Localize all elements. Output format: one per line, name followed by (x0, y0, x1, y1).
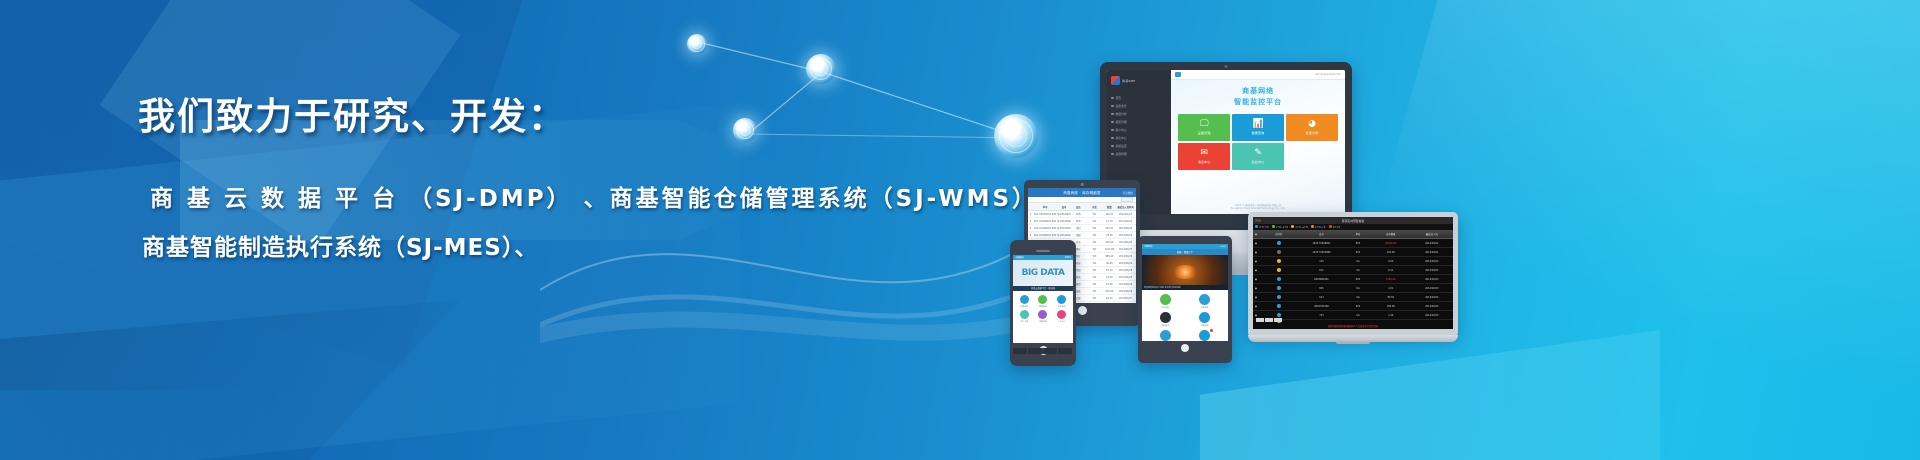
signal-light-icon (1260, 277, 1298, 281)
cell-5: 56.00 (1105, 262, 1115, 265)
bullet-icon (1111, 97, 1114, 100)
tablet-camera-icon (1081, 183, 1084, 186)
cell-6: 2014/04/24 (1115, 262, 1136, 265)
bullet-icon (1111, 145, 1114, 148)
cell-5: 87.30 (1105, 269, 1115, 272)
table-row[interactable]: ▣743KG1.462014/04/25 (1253, 311, 1453, 320)
tile-message-center[interactable]: ✉ 消息中心 (1178, 143, 1230, 170)
cell-3: 铜线 (1072, 233, 1084, 237)
cell-4: W3 (1085, 248, 1103, 251)
app-label: 生产工单 (1021, 320, 1029, 323)
edit-icon: ✎ (1254, 149, 1262, 158)
cell-code: 8403661861 (1299, 278, 1344, 281)
legend-item-4: 大于1年 (1329, 225, 1341, 229)
cell-qty: 6700.00 (1372, 278, 1410, 281)
legend-label: 6个月~1年 (1315, 227, 1326, 229)
cell-5: 2100.00 (1105, 248, 1115, 251)
table-row[interactable]: ▣8403661861PCS6700.002014/04/23 (1253, 275, 1453, 284)
cell-0: 2 (1028, 220, 1033, 223)
carrier-label: 中国移动 (1144, 245, 1152, 248)
cell-code: 611 (1299, 269, 1344, 272)
cell-5: 103.21 (1105, 213, 1115, 216)
cell-4: W1 (1085, 241, 1103, 244)
bar-chart-icon: 📊 (1253, 120, 1264, 129)
app-label: 物料配送 (1161, 324, 1169, 327)
cell-date: 2014/04/24 (1411, 305, 1453, 308)
cell-code: 613 (1299, 296, 1344, 299)
table-row[interactable]: ▣4081704460PCS105.002014/04/24 (1253, 302, 1453, 311)
cell-date: 2014/04/22 (1411, 260, 1453, 263)
cell-1: 201-01040030-0001-2014XC-00001000 (1034, 213, 1056, 216)
legend-label: 大于1年 (1333, 227, 1341, 229)
battery-label: 100% (1220, 246, 1226, 248)
legend-item-1: 1个月~3个月 (1272, 225, 1289, 229)
cell-code: 1045.70646001 (1299, 242, 1344, 245)
row-checkbox[interactable]: ▣ (1253, 287, 1259, 290)
app-label: 库存查询 (1058, 305, 1066, 308)
col-warehouse[interactable]: 仓库 (1085, 205, 1103, 209)
signal-light-icon (1260, 259, 1298, 263)
phone-speaker-icon (1036, 250, 1050, 252)
legend-label: 1个月~3个月 (1276, 227, 1289, 229)
laptop-base-notch (1336, 342, 1370, 344)
imac-account-label: admin@sj-dmp.com (1315, 73, 1341, 76)
cell-unit: PCS (1345, 305, 1371, 308)
app-icon-tile[interactable]: 能耗分析 (1147, 330, 1184, 341)
cell-4: W3 (1085, 255, 1103, 258)
cell-qty: 102.90 (1372, 251, 1410, 254)
tile-label: 智能分析 (1306, 131, 1319, 135)
tile-label: 设备管理 (1198, 131, 1211, 135)
sidebar-item-7[interactable]: 运维管理 (1107, 150, 1171, 158)
signal-light-icon (1260, 268, 1298, 272)
cell-code: 1045.70013686 (1299, 251, 1344, 254)
sidebar-item-label: 数据分析 (1116, 112, 1127, 116)
table-row[interactable]: ▣1045.70646001PCS29426.002014/04/21 (1253, 239, 1453, 248)
col-qty[interactable]: 库存数量 (1372, 232, 1410, 236)
laptop-window-titlebar: 库存实时预警看板 (1253, 217, 1453, 224)
imac-logo: 商基SMP (1107, 73, 1171, 88)
cell-unit: KG (1345, 314, 1371, 317)
cell-code: 845 (1299, 287, 1344, 290)
tablet-right-hero-image (1142, 255, 1228, 285)
tile-data-query[interactable]: 📊 数据查询 (1232, 114, 1284, 141)
cell-0: 4 (1028, 234, 1033, 237)
col-name[interactable]: 品名 (1072, 205, 1084, 209)
device-mockup-cluster: 商基SMP 首页 设备监控 数据分析 报警管理 用户中心 消息中心 系统设置 运… (1010, 40, 1510, 370)
laptop-mockup: 库存实时预警看板 小于1个月 1个月~3个月 3个月~6个月 6个月~1年 大于… (1248, 212, 1458, 344)
laptop-table-body: ▣1045.70646001PCS29426.002014/04/21▣1045… (1253, 239, 1453, 329)
window-controls-icon[interactable] (1255, 219, 1261, 222)
tile-label: 数据查询 (1252, 131, 1265, 135)
cell-qty: 4.31 (1372, 287, 1410, 290)
imac-title-line1: 商基网络 (1171, 86, 1345, 96)
col-qty[interactable]: 数量 (1105, 205, 1115, 209)
app-label: 个人中心 (1058, 320, 1066, 323)
tile-empty (1286, 143, 1338, 170)
laptop-base (1248, 335, 1458, 342)
table-row[interactable]: ▣845KG4.312014/04/23 (1253, 284, 1453, 293)
imac-tile-grid: 🖵 设备管理 📊 数据查询 ◕ 智能分析 (1171, 107, 1345, 170)
app-icon (1020, 295, 1029, 304)
sidebar-item-6[interactable]: 系统设置 (1107, 142, 1171, 150)
tile-device-management[interactable]: 🖵 设备管理 (1178, 114, 1230, 141)
sidebar-item-4[interactable]: 用户中心 (1107, 126, 1171, 134)
imac-screen: 商基SMP 首页 设备监控 数据分析 报警管理 用户中心 消息中心 系统设置 运… (1107, 70, 1345, 214)
app-label: 质量追溯 (1201, 324, 1209, 327)
app-icon (1160, 330, 1171, 341)
app-icon-tile[interactable]: 设备状态 (1187, 294, 1224, 309)
sidebar-item-label: 系统设置 (1116, 144, 1127, 148)
cell-4: W1 (1085, 220, 1103, 223)
app-label: 生产看板 (1161, 306, 1169, 309)
cell-unit: PCS (1345, 242, 1371, 245)
cell-6: 2014/04/22 (1115, 227, 1136, 230)
cell-2: SJ-DM-0001092 (1057, 213, 1071, 216)
table-row[interactable]: ▣611KG6.112014/04/22 (1253, 266, 1453, 275)
laptop-window-title: 库存实时预警看板 (1342, 219, 1364, 223)
tablet-left-table-header: 单号 品号 品名 仓库 数量 最近出入库时间 (1028, 203, 1136, 211)
cell-1: 201-01040030-0001-2014XC-00001001 (1034, 220, 1056, 223)
cell-5: 450.00 (1105, 241, 1115, 244)
app-label: 数据报表 (1039, 305, 1047, 308)
notification-badge (1210, 329, 1213, 332)
phone-screen: 中国移动 100% BIG DATA 商基云数据平台 · 移动端 设备监控数据报… (1013, 255, 1073, 343)
cell-5: 64.10 (1105, 297, 1115, 300)
table-row[interactable]: ▣1045.70013686PCS102.902014/04/21 (1253, 248, 1453, 257)
app-icon (1038, 295, 1047, 304)
cell-4: W2 (1085, 234, 1103, 237)
app-icon-tile[interactable]: 生产工单 (1016, 310, 1033, 323)
tablet-home-button[interactable] (1078, 306, 1087, 315)
legend-label: 3个月~6个月 (1295, 227, 1308, 229)
cell-date: 2014/04/24 (1411, 296, 1453, 299)
row-checkbox[interactable]: ▣ (1253, 242, 1259, 245)
row-checkbox[interactable]: ▣ (1253, 278, 1259, 281)
tablet-left-title: 商基网络 · 库存明细表 (1063, 190, 1100, 195)
app-icon (1020, 310, 1029, 319)
signal-light-icon (1260, 241, 1298, 245)
cell-unit: KG (1345, 260, 1371, 263)
tile-smart-analysis[interactable]: ◕ 智能分析 (1286, 114, 1338, 141)
bullet-icon (1111, 105, 1114, 108)
imac-footer-line2: Sungbing Shanji Internet Technology Co.,… (1171, 207, 1345, 211)
product-line-1: 商 基 云 数 据 平 台 （SJ-DMP） 、商基智能仓储管理系统（SJ-WM… (138, 188, 958, 211)
signal-light-icon (1260, 313, 1298, 317)
cell-0: 3 (1028, 227, 1033, 230)
legend-label: 小于1个月 (1259, 227, 1269, 229)
col-order[interactable]: 单号 (1034, 205, 1056, 209)
page-title: 我们致力于研究、开发： (138, 86, 958, 140)
app-icon-tile[interactable]: 设备监控 (1016, 295, 1033, 308)
envelope-icon: ✉ (1200, 149, 1208, 158)
bullet-icon (1111, 129, 1114, 132)
app-icon-tile[interactable]: 报警消息 (1035, 310, 1052, 323)
app-icon-tile[interactable]: 报警中心 (1187, 330, 1224, 341)
app-icon-tile[interactable]: 库存查询 (1053, 295, 1070, 308)
export-data-button[interactable]: 导出数据 (1123, 191, 1133, 195)
cell-4: W1 (1085, 262, 1103, 265)
imac-footer: 2014 © 版权所有 / 商基网络科技有限公司 Sungbing Shanji… (1171, 204, 1345, 211)
cell-5: 41.20 (1105, 276, 1115, 279)
cell-3: PCB (1072, 220, 1084, 223)
cell-5: 19.60 (1105, 283, 1115, 286)
cell-5: 103.21 (1105, 227, 1115, 230)
bullet-icon (1111, 137, 1114, 140)
cell-unit: PCS (1345, 251, 1371, 254)
export-button[interactable] (1265, 318, 1273, 322)
tablet-left-header: 商基网络 · 库存明细表 导出数据 (1028, 188, 1136, 197)
signal-light-icon (1260, 250, 1298, 254)
cell-6: 2014/04/25 (1115, 276, 1136, 279)
legend-item-2: 3个月~6个月 (1291, 225, 1308, 229)
phone-app-grid: 设备监控数据报表库存查询生产工单报警消息个人中心 (1013, 291, 1073, 327)
app-icon-tile[interactable]: 质量追溯 (1187, 312, 1224, 327)
cell-6: 2014/04/23 (1115, 248, 1136, 251)
tablet-right-app-grid: 生产看板设备状态物料配送质量追溯能耗分析报警中心 (1142, 290, 1228, 341)
cell-unit: KG (1345, 287, 1371, 290)
cell-5: 230.00 (1105, 290, 1115, 293)
table-row[interactable]: ▣613KG80.502014/04/24 (1253, 293, 1453, 302)
tablet-right-mockup: 中国移动 100% 商基 · 智能工厂 商基智能制造执行系统 现场实时监控画面 … (1138, 236, 1232, 363)
cell-date: 2014/04/21 (1411, 251, 1453, 254)
cell-3: 铝材 (1072, 226, 1084, 230)
row-checkbox[interactable]: ▣ (1253, 260, 1259, 263)
cell-4: W1 (1085, 213, 1103, 216)
cell-unit: KG (1345, 296, 1371, 299)
cell-2: SJ-DM-0001095 (1057, 234, 1071, 237)
laptop-marquee: 热烈祝贺多家商基网络客户产品实现全年供货目标 (1253, 323, 1453, 329)
cell-unit: PCS (1345, 278, 1371, 281)
table-row[interactable]: 3201-01040030-0001-2014XC-00001002SJ-DM-… (1028, 225, 1136, 232)
cell-code: 4081704460 (1299, 305, 1344, 308)
cell-2: SJ-DM-0001094 (1057, 227, 1071, 230)
cell-unit: KG (1345, 269, 1371, 272)
network-node-1 (687, 34, 707, 54)
app-icon-tile[interactable]: 个人中心 (1053, 310, 1070, 323)
app-icon (1199, 312, 1210, 323)
product-list: 商 基 云 数 据 平 台 （SJ-DMP） 、商基智能仓储管理系统（SJ-WM… (138, 188, 958, 260)
app-label: 设备状态 (1201, 306, 1209, 309)
col-code[interactable]: 品号 (1299, 232, 1344, 236)
cell-code: 743 (1299, 314, 1344, 317)
table-row[interactable]: 1201-01040030-0001-2014XC-00001000SJ-DM-… (1028, 211, 1136, 218)
cell-1: 201-01040030-0001-2014XC-00001003 (1034, 234, 1056, 237)
sidebar-item-label: 报警管理 (1116, 120, 1127, 124)
cell-5: 78.50 (1105, 234, 1115, 237)
table-row[interactable]: 4201-01040030-0001-2014XC-00001003SJ-DM-… (1028, 232, 1136, 239)
signal-light-icon (1260, 295, 1298, 299)
imac-logo-label: 商基SMP (1122, 79, 1135, 83)
sidebar-item-5[interactable]: 消息中心 (1107, 134, 1171, 142)
app-label: 设备监控 (1021, 305, 1029, 308)
brand-mark-icon (1111, 76, 1120, 85)
imac-title-line2: 智能监控平台 (1171, 97, 1345, 107)
cell-6: 2014/04/26 (1115, 283, 1136, 286)
app-icon (1199, 330, 1210, 341)
app-icon-tile[interactable]: 生产看板 (1147, 294, 1184, 309)
row-checkbox[interactable]: ▣ (1253, 296, 1259, 299)
cell-3: PCB (1072, 213, 1084, 216)
sidebar-item-3[interactable]: 报警管理 (1107, 118, 1171, 126)
cell-date: 2014/04/21 (1411, 242, 1453, 245)
row-checkbox[interactable]: ▣ (1253, 305, 1259, 308)
cell-5: 12.70 (1105, 220, 1115, 223)
col-unit[interactable]: 单位 (1345, 232, 1371, 236)
tile-label: 消息中心 (1198, 160, 1211, 164)
col-code[interactable]: 品号 (1057, 205, 1071, 209)
bg-polygon-d (0, 300, 460, 460)
cell-4: W3 (1085, 297, 1103, 300)
bullet-icon (1111, 113, 1114, 116)
laptop-screen: 库存实时预警看板 小于1个月 1个月~3个月 3个月~6个月 6个月~1年 大于… (1253, 217, 1453, 329)
imac-camera-icon (1225, 65, 1228, 68)
imac-content: admin@sj-dmp.com 商基网络 智能监控平台 🖵 设备管理 (1171, 70, 1345, 214)
cell-6: 2014/04/24 (1115, 255, 1136, 258)
imac-hero-title: 商基网络 智能监控平台 (1171, 80, 1345, 107)
app-icon (1057, 310, 1066, 319)
cell-qty: 80.50 (1372, 296, 1410, 299)
settings-button[interactable] (1274, 318, 1282, 322)
app-icon (1057, 295, 1066, 304)
cell-date: 2014/04/25 (1411, 314, 1453, 317)
col-time[interactable]: 最近出入库时间 (1115, 205, 1136, 209)
signal-light-icon (1260, 304, 1298, 308)
sidebar-item-2[interactable]: 数据分析 (1107, 110, 1171, 118)
sidebar-item-label: 消息中心 (1116, 136, 1127, 140)
col-checkbox: ▣ (1253, 233, 1259, 236)
battery-label: 100% (1065, 256, 1071, 259)
app-icon (1160, 294, 1171, 305)
bullet-icon (1111, 121, 1114, 124)
cell-date: 2014/04/23 (1411, 278, 1453, 281)
sidebar-item-0[interactable]: 首页 (1107, 94, 1171, 102)
row-checkbox[interactable]: ▣ (1253, 269, 1259, 272)
cell-code: 125 (1299, 260, 1344, 263)
cell-5: 980.00 (1105, 255, 1115, 258)
network-node-2 (806, 54, 836, 84)
col-signal[interactable]: 信号灯 (1260, 232, 1298, 236)
cell-4: W2 (1085, 276, 1103, 279)
legend-item-0: 小于1个月 (1255, 225, 1269, 229)
cell-6: 2014/04/22 (1115, 234, 1136, 237)
sidebar-item-label: 首页 (1116, 96, 1122, 100)
app-icon-tile[interactable]: 数据报表 (1035, 295, 1052, 308)
grid-icon[interactable] (1175, 72, 1181, 77)
banner-root: 我们致力于研究、开发： 商 基 云 数 据 平 台 （SJ-DMP） 、商基智能… (0, 0, 1920, 460)
col-date[interactable]: 最近出/入库 (1411, 232, 1453, 236)
bg-polygon-h (0, 390, 300, 460)
cell-qty: 29426.00 (1372, 242, 1410, 245)
cell-4: W3 (1085, 290, 1103, 293)
table-row[interactable]: ▣125KG9.002014/04/22 (1253, 257, 1453, 266)
signal-light-icon (1260, 286, 1298, 290)
cell-1: 201-01040030-0001-2014XC-00001002 (1034, 227, 1056, 230)
imac-topbar: admin@sj-dmp.com (1171, 70, 1345, 80)
tablet-home-button[interactable] (1181, 344, 1189, 352)
monitor-icon: 🖵 (1200, 120, 1209, 129)
cell-6: 2014/04/25 (1115, 269, 1136, 272)
cell-6: 2014/04/27 (1115, 297, 1136, 300)
app-label: 报警消息 (1039, 320, 1047, 323)
product-line-2: 商基智能制造执行系统（SJ-MES）、 (138, 237, 958, 260)
cell-qty: 1.46 (1372, 314, 1410, 317)
phone-hero-banner: BIG DATA (1013, 260, 1073, 286)
row-checkbox[interactable]: ▣ (1253, 251, 1259, 254)
table-row[interactable]: 2201-01040030-0001-2014XC-00001001SJ-DM-… (1028, 218, 1136, 225)
phone-mockup: 中国移动 100% BIG DATA 商基云数据平台 · 移动端 设备监控数据报… (1010, 240, 1076, 366)
app-icon (1038, 310, 1047, 319)
tile-label: 后台办公 (1252, 160, 1265, 164)
sidebar-item-1[interactable]: 设备监控 (1107, 102, 1171, 110)
furnace-glow-icon (1172, 265, 1198, 279)
pie-chart-icon: ◕ (1308, 120, 1316, 129)
app-icon-tile[interactable]: 物料配送 (1147, 312, 1184, 327)
sidebar-item-label: 用户中心 (1116, 128, 1127, 132)
cell-date: 2014/04/23 (1411, 287, 1453, 290)
refresh-button[interactable] (1256, 318, 1264, 322)
bullet-icon (1111, 153, 1114, 156)
cell-date: 2014/04/22 (1411, 269, 1453, 272)
cell-qty: 9.00 (1372, 260, 1410, 263)
carrier-label: 中国移动 (1015, 255, 1024, 259)
cell-6: 2014/04/23 (1115, 241, 1136, 244)
cell-6: 2014/04/21 (1115, 213, 1136, 216)
imac-sidebar-menu: 首页 设备监控 数据分析 报警管理 用户中心 消息中心 系统设置 运维管理 (1107, 94, 1171, 158)
laptop-action-buttons (1256, 318, 1282, 322)
cell-qty: 105.00 (1372, 305, 1410, 308)
laptop-lid: 库存实时预警看板 小于1个月 1个月~3个月 3个月~6个月 6个月~1年 大于… (1248, 212, 1458, 335)
laptop-table-header: ▣ 信号灯 品号 单位 库存数量 最近出/入库 (1253, 230, 1453, 239)
tile-back-office[interactable]: ✎ 后台办公 (1232, 143, 1284, 170)
cell-4: W2 (1085, 227, 1103, 230)
cell-4: W1 (1085, 269, 1103, 272)
banner-text-block: 我们致力于研究、开发： 商 基 云 数 据 平 台 （SJ-DMP） 、商基智能… (138, 86, 958, 260)
cell-0: 1 (1028, 213, 1033, 216)
app-icon (1160, 312, 1171, 323)
cell-6: 2014/04/26 (1115, 290, 1136, 293)
cell-4: W2 (1085, 283, 1103, 286)
sidebar-item-label: 设备监控 (1116, 104, 1127, 108)
row-checkbox[interactable]: ▣ (1253, 314, 1259, 317)
sidebar-item-label: 运维管理 (1116, 152, 1127, 156)
cell-2: SJ-DM-0001093 (1057, 220, 1071, 223)
legend-item-3: 6个月~1年 (1311, 225, 1326, 229)
cell-qty: 6.11 (1372, 269, 1410, 272)
app-icon (1199, 294, 1210, 305)
cell-6: 2014/04/21 (1115, 220, 1136, 223)
search-input[interactable] (1121, 197, 1133, 202)
tablet-right-screen: 中国移动 100% 商基 · 智能工厂 商基智能制造执行系统 现场实时监控画面 … (1142, 244, 1228, 341)
